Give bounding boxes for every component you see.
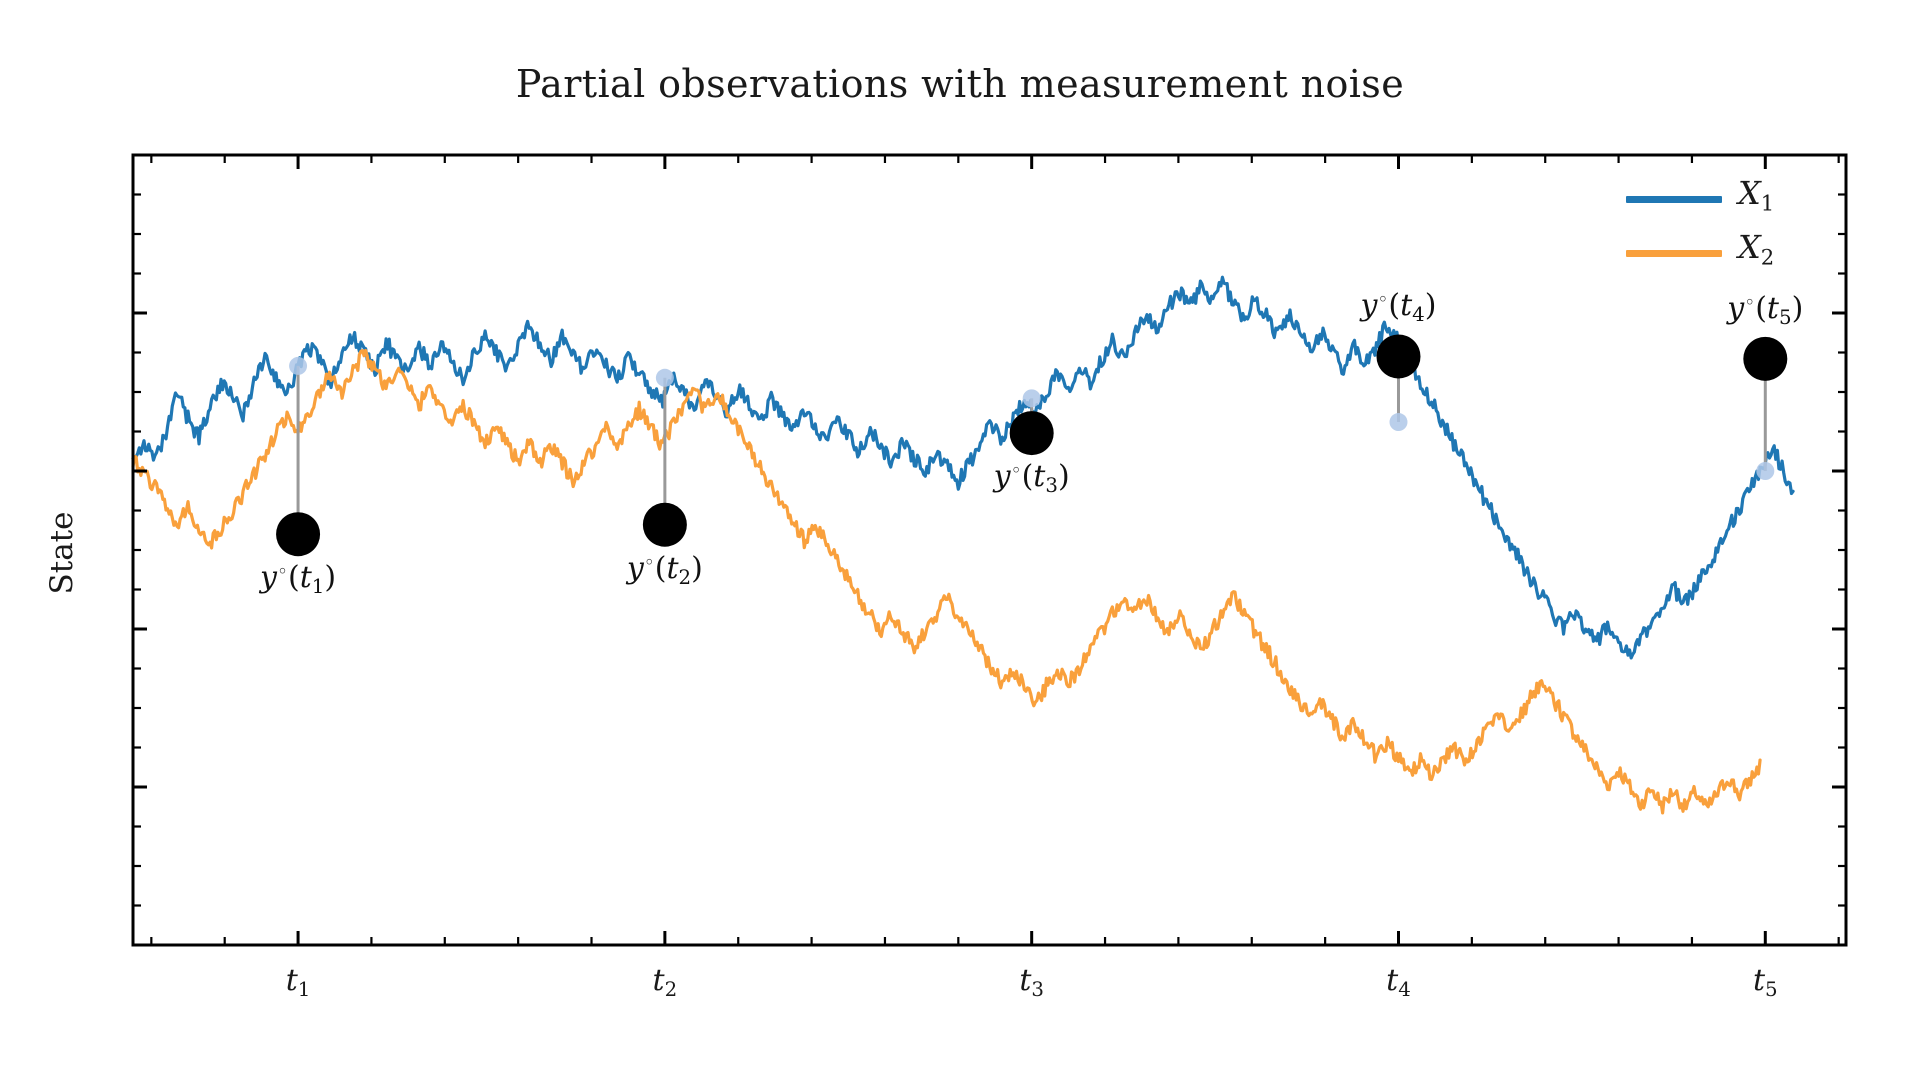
- chart-title: Partial observations with measurement no…: [0, 62, 1920, 106]
- legend-swatch-X1: [1626, 196, 1722, 203]
- observation-marker[interactable]: [1010, 411, 1054, 455]
- observations-group: [276, 334, 1787, 556]
- legend-label-X2: X2: [1738, 228, 1774, 269]
- legend-label-X1: X1: [1738, 174, 1774, 215]
- true-state-marker: [656, 369, 674, 387]
- plot-frame: [133, 155, 1846, 945]
- series-line-X1: [133, 277, 1793, 658]
- figure-root: Partial observations with measurement no…: [0, 0, 1920, 1080]
- x-tick-label-t1: t1: [286, 963, 311, 1001]
- true-state-marker: [1756, 462, 1774, 480]
- true-state-marker: [1389, 413, 1407, 431]
- plot-svg: [133, 155, 1846, 945]
- legend-swatch-X2: [1626, 250, 1722, 257]
- observation-marker[interactable]: [1376, 334, 1420, 378]
- true-state-marker: [289, 357, 307, 375]
- x-tick-label-t5: t5: [1753, 963, 1778, 1001]
- legend[interactable]: X1X2: [1618, 176, 1830, 284]
- axes-frame: [133, 155, 1846, 945]
- x-tick-label-t3: t3: [1019, 963, 1044, 1001]
- series-line-X2: [133, 351, 1760, 813]
- observation-marker[interactable]: [276, 512, 320, 556]
- observation-marker[interactable]: [643, 503, 687, 547]
- legend-item-X2[interactable]: X2: [1618, 230, 1830, 276]
- true-state-marker: [1023, 389, 1041, 407]
- observation-marker[interactable]: [1743, 337, 1787, 381]
- legend-item-X1[interactable]: X1: [1618, 176, 1830, 222]
- x-tick-label-t2: t2: [653, 963, 678, 1001]
- series-group: [133, 277, 1793, 813]
- plot-area: [133, 155, 1846, 945]
- y-axis-label: State: [44, 158, 78, 948]
- x-tick-label-t4: t4: [1386, 963, 1411, 1001]
